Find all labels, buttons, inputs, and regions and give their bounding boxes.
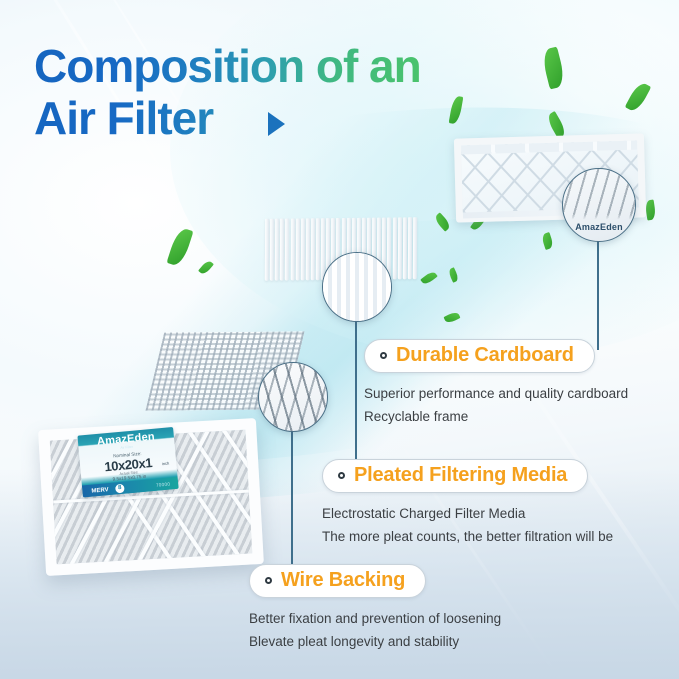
label-rating: 70000 <box>156 482 171 488</box>
connector-line-pleat <box>355 320 357 470</box>
callout-description: Better fixation and prevention of loosen… <box>249 607 501 653</box>
callout-label: Wire Backing <box>281 569 405 592</box>
title-line-1: Composition of an <box>34 40 421 92</box>
connector-line-wire <box>291 430 293 578</box>
cardboard-magnifier: AmazEden <box>562 168 636 242</box>
callout-description: Superior performance and quality cardboa… <box>364 382 628 428</box>
callout-line: Superior performance and quality cardboa… <box>364 382 628 405</box>
ring-bullet-icon <box>380 352 387 359</box>
page-title: Composition of an Air Filter <box>34 40 421 144</box>
callout-wire-backing: Wire Backing Better fixation and prevent… <box>249 564 501 653</box>
callout-line: Better fixation and prevention of loosen… <box>249 607 501 630</box>
magnifier-brand-tag: AmazEden <box>563 222 635 232</box>
callout-pill[interactable]: Wire Backing <box>249 564 426 598</box>
callout-label: Durable Cardboard <box>396 344 574 367</box>
product-label: AmazEden Air Filter Nominal Size: 10x20x… <box>77 427 178 497</box>
connector-line-cardboard <box>597 240 599 350</box>
infographic-canvas: Composition of an Air Filter AmazEden Ai… <box>0 0 679 679</box>
triangle-right-icon <box>268 112 285 136</box>
callout-line: Blevate pleat longevity and stability <box>249 630 501 653</box>
label-merv-value: 8 <box>115 483 125 493</box>
callout-description: Electrostatic Charged Filter Media The m… <box>322 502 613 548</box>
callout-line: The more pleat counts, the better filtra… <box>322 525 613 548</box>
callout-line: Electrostatic Charged Filter Media <box>322 502 613 525</box>
callout-line: Recyclable frame <box>364 405 628 428</box>
callout-pill[interactable]: Pleated Filtering Media <box>322 459 588 493</box>
air-filter-product-image: AmazEden Air Filter Nominal Size: 10x20x… <box>38 418 264 576</box>
ring-bullet-icon <box>265 577 272 584</box>
wire-magnifier <box>258 362 328 432</box>
title-line-2: Air Filter <box>34 92 421 144</box>
label-unit: inch <box>162 461 170 467</box>
pleat-magnifier <box>322 252 392 322</box>
callout-pleated-filtering-media: Pleated Filtering Media Electrostatic Ch… <box>322 459 613 548</box>
ring-bullet-icon <box>338 472 345 479</box>
callout-durable-cardboard: Durable Cardboard Superior performance a… <box>364 339 628 428</box>
callout-pill[interactable]: Durable Cardboard <box>364 339 595 373</box>
label-merv-caption: MERV <box>91 487 109 495</box>
callout-label: Pleated Filtering Media <box>354 464 567 487</box>
